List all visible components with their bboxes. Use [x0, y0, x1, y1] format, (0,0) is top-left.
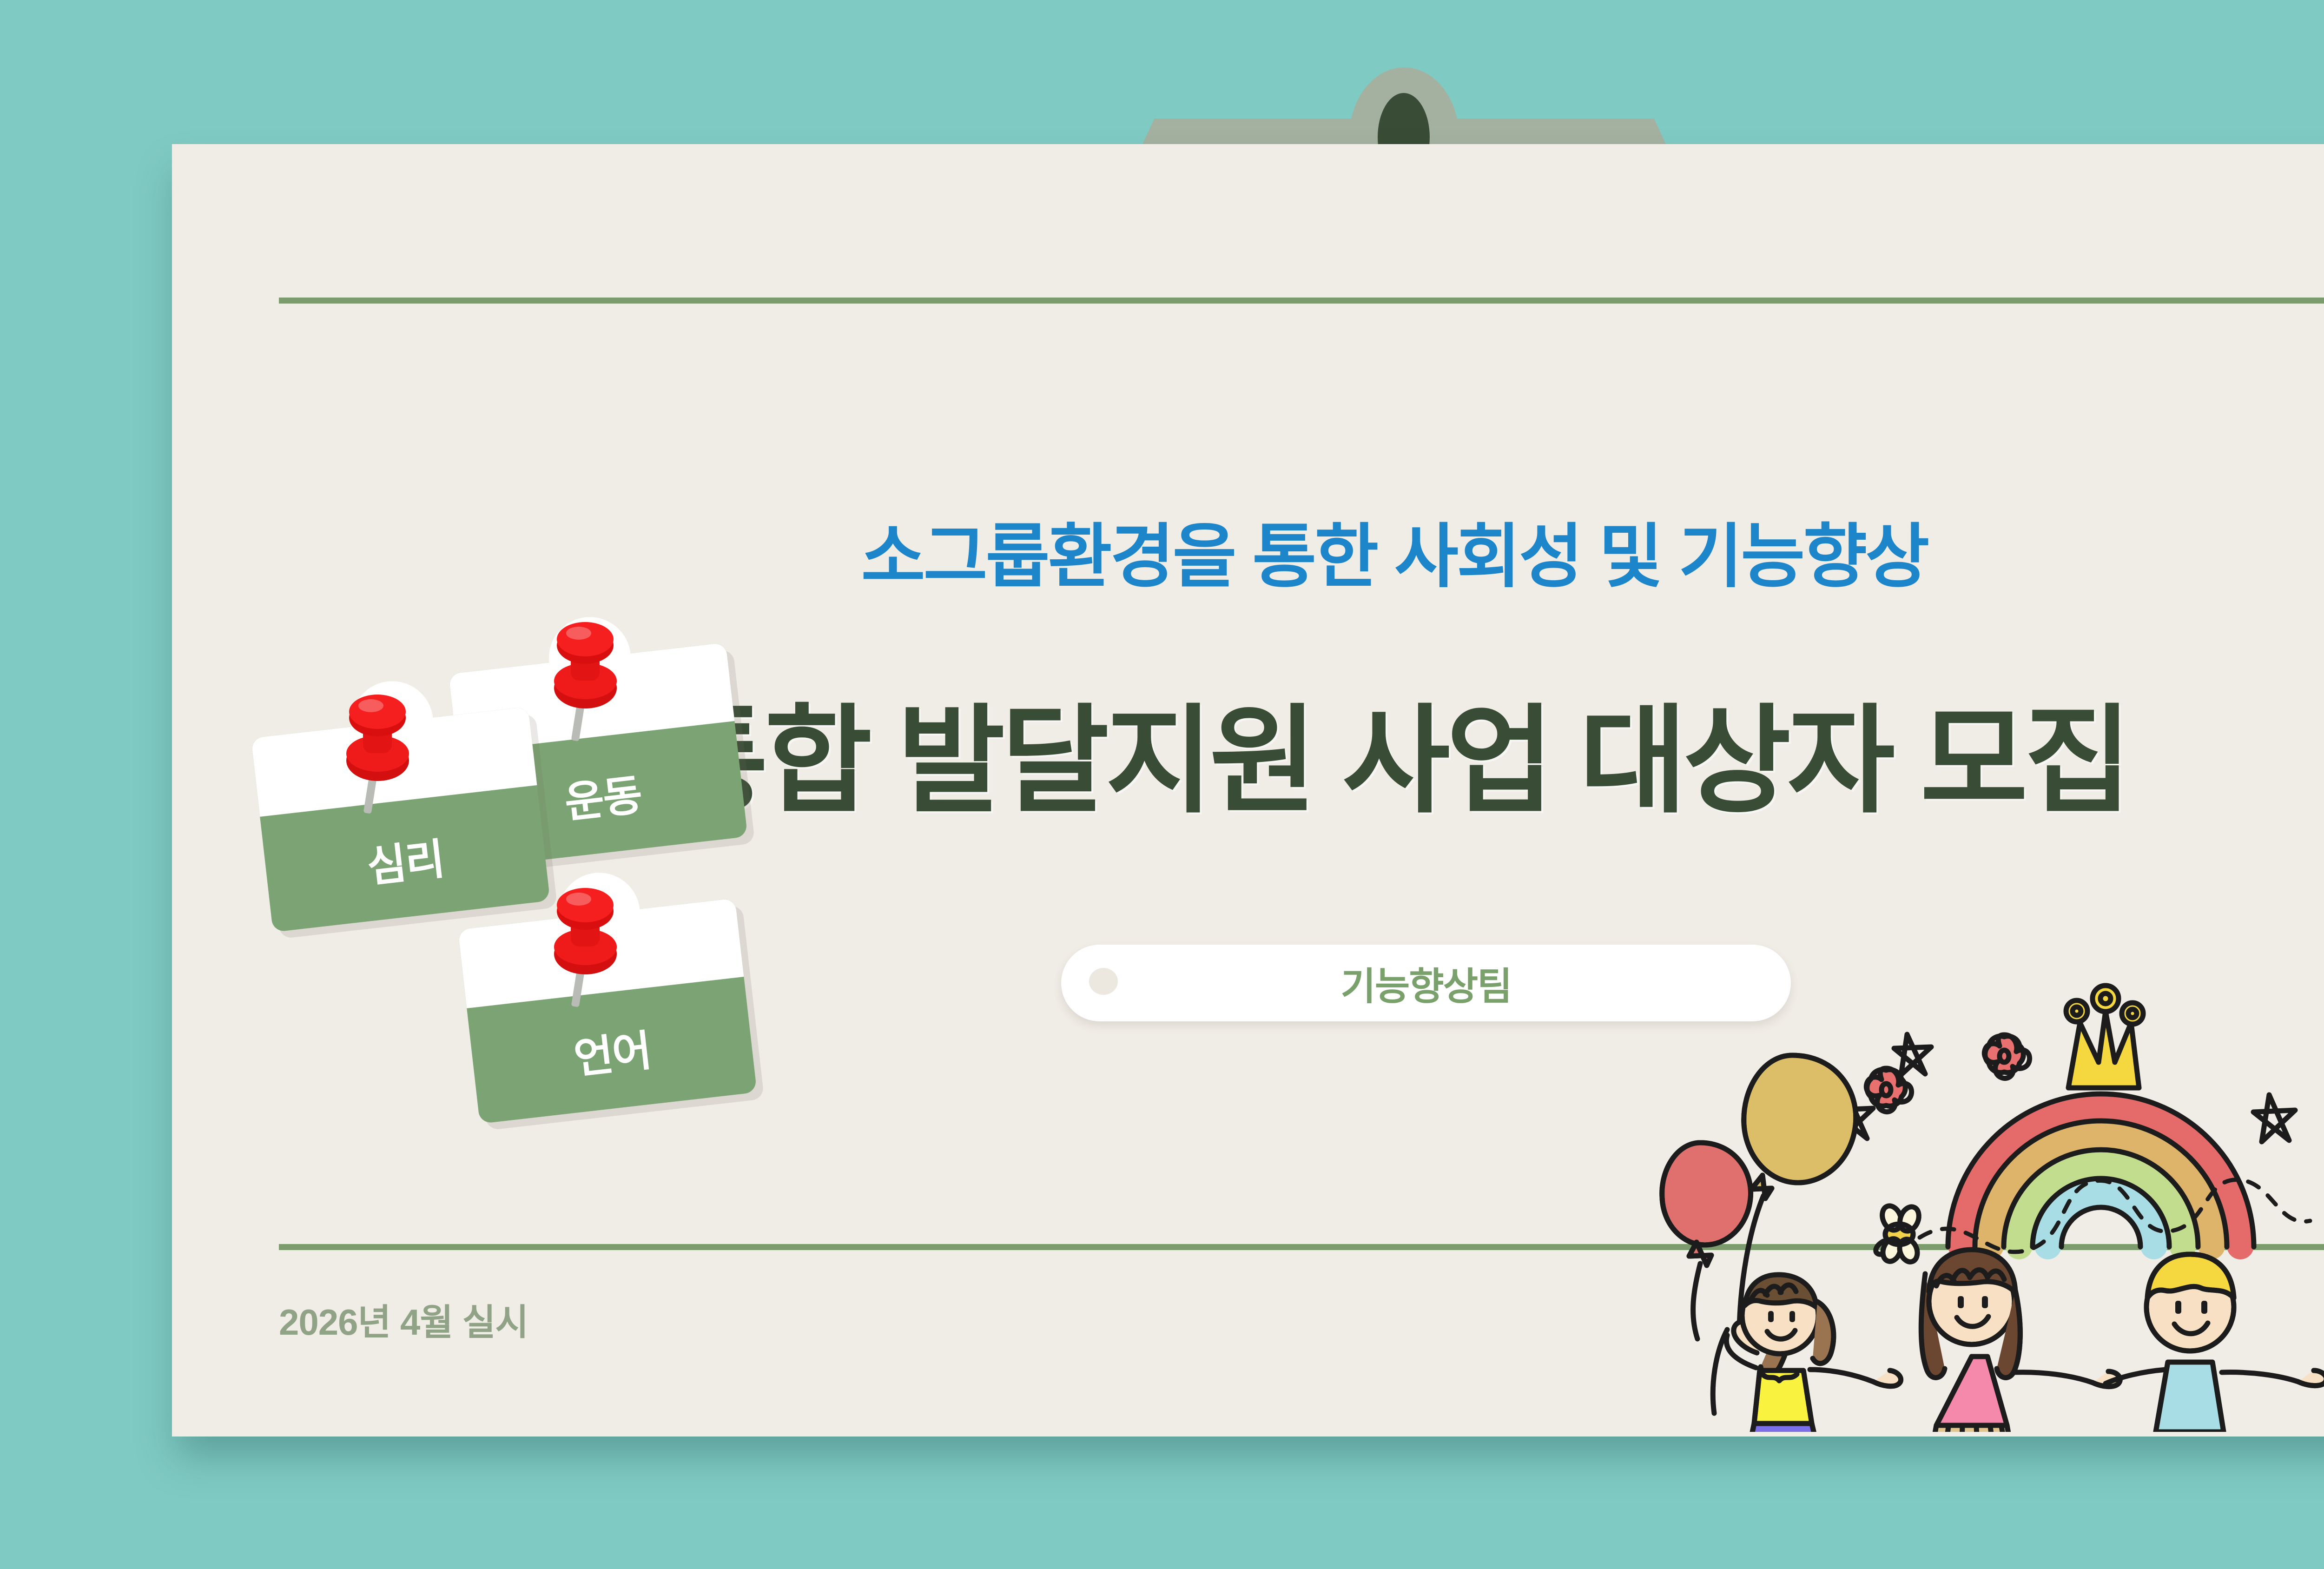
child-girl-pink [1873, 1250, 2093, 1432]
crown-icon [2066, 986, 2143, 1088]
flower-icon-group [1866, 1035, 2029, 1112]
tag-card-label: 심리 [263, 813, 547, 906]
poster-subtitle: 소그룹환경을 통한 사회성 및 기능향상 [0, 500, 2324, 601]
rainbow-icon [1948, 1094, 2254, 1247]
poster-canvas: 소그룹환경을 통한 사회성 및 기능향상 통합 발달지원 사업 대상자 모집 기… [0, 0, 2324, 1569]
footer-date: 2026년 4월 실시 [279, 1293, 528, 1345]
tag-card-body: 언어 [458, 898, 757, 1124]
tag-hole-icon [1089, 968, 1118, 995]
child-girl-purple [2298, 1279, 2324, 1432]
child-girl-yellow [1713, 1275, 1873, 1432]
balloon-red-icon [1662, 1143, 1751, 1339]
team-badge-label: 기능향상팀 [1340, 955, 1511, 1011]
tag-card-label: 언어 [470, 1005, 754, 1098]
child-boy-blue [2093, 1254, 2298, 1432]
bee-icon [1876, 1203, 1922, 1264]
children-illustration [1641, 883, 2324, 1432]
divider-top [279, 298, 2324, 304]
tag-card-body: 심리 [251, 707, 550, 932]
